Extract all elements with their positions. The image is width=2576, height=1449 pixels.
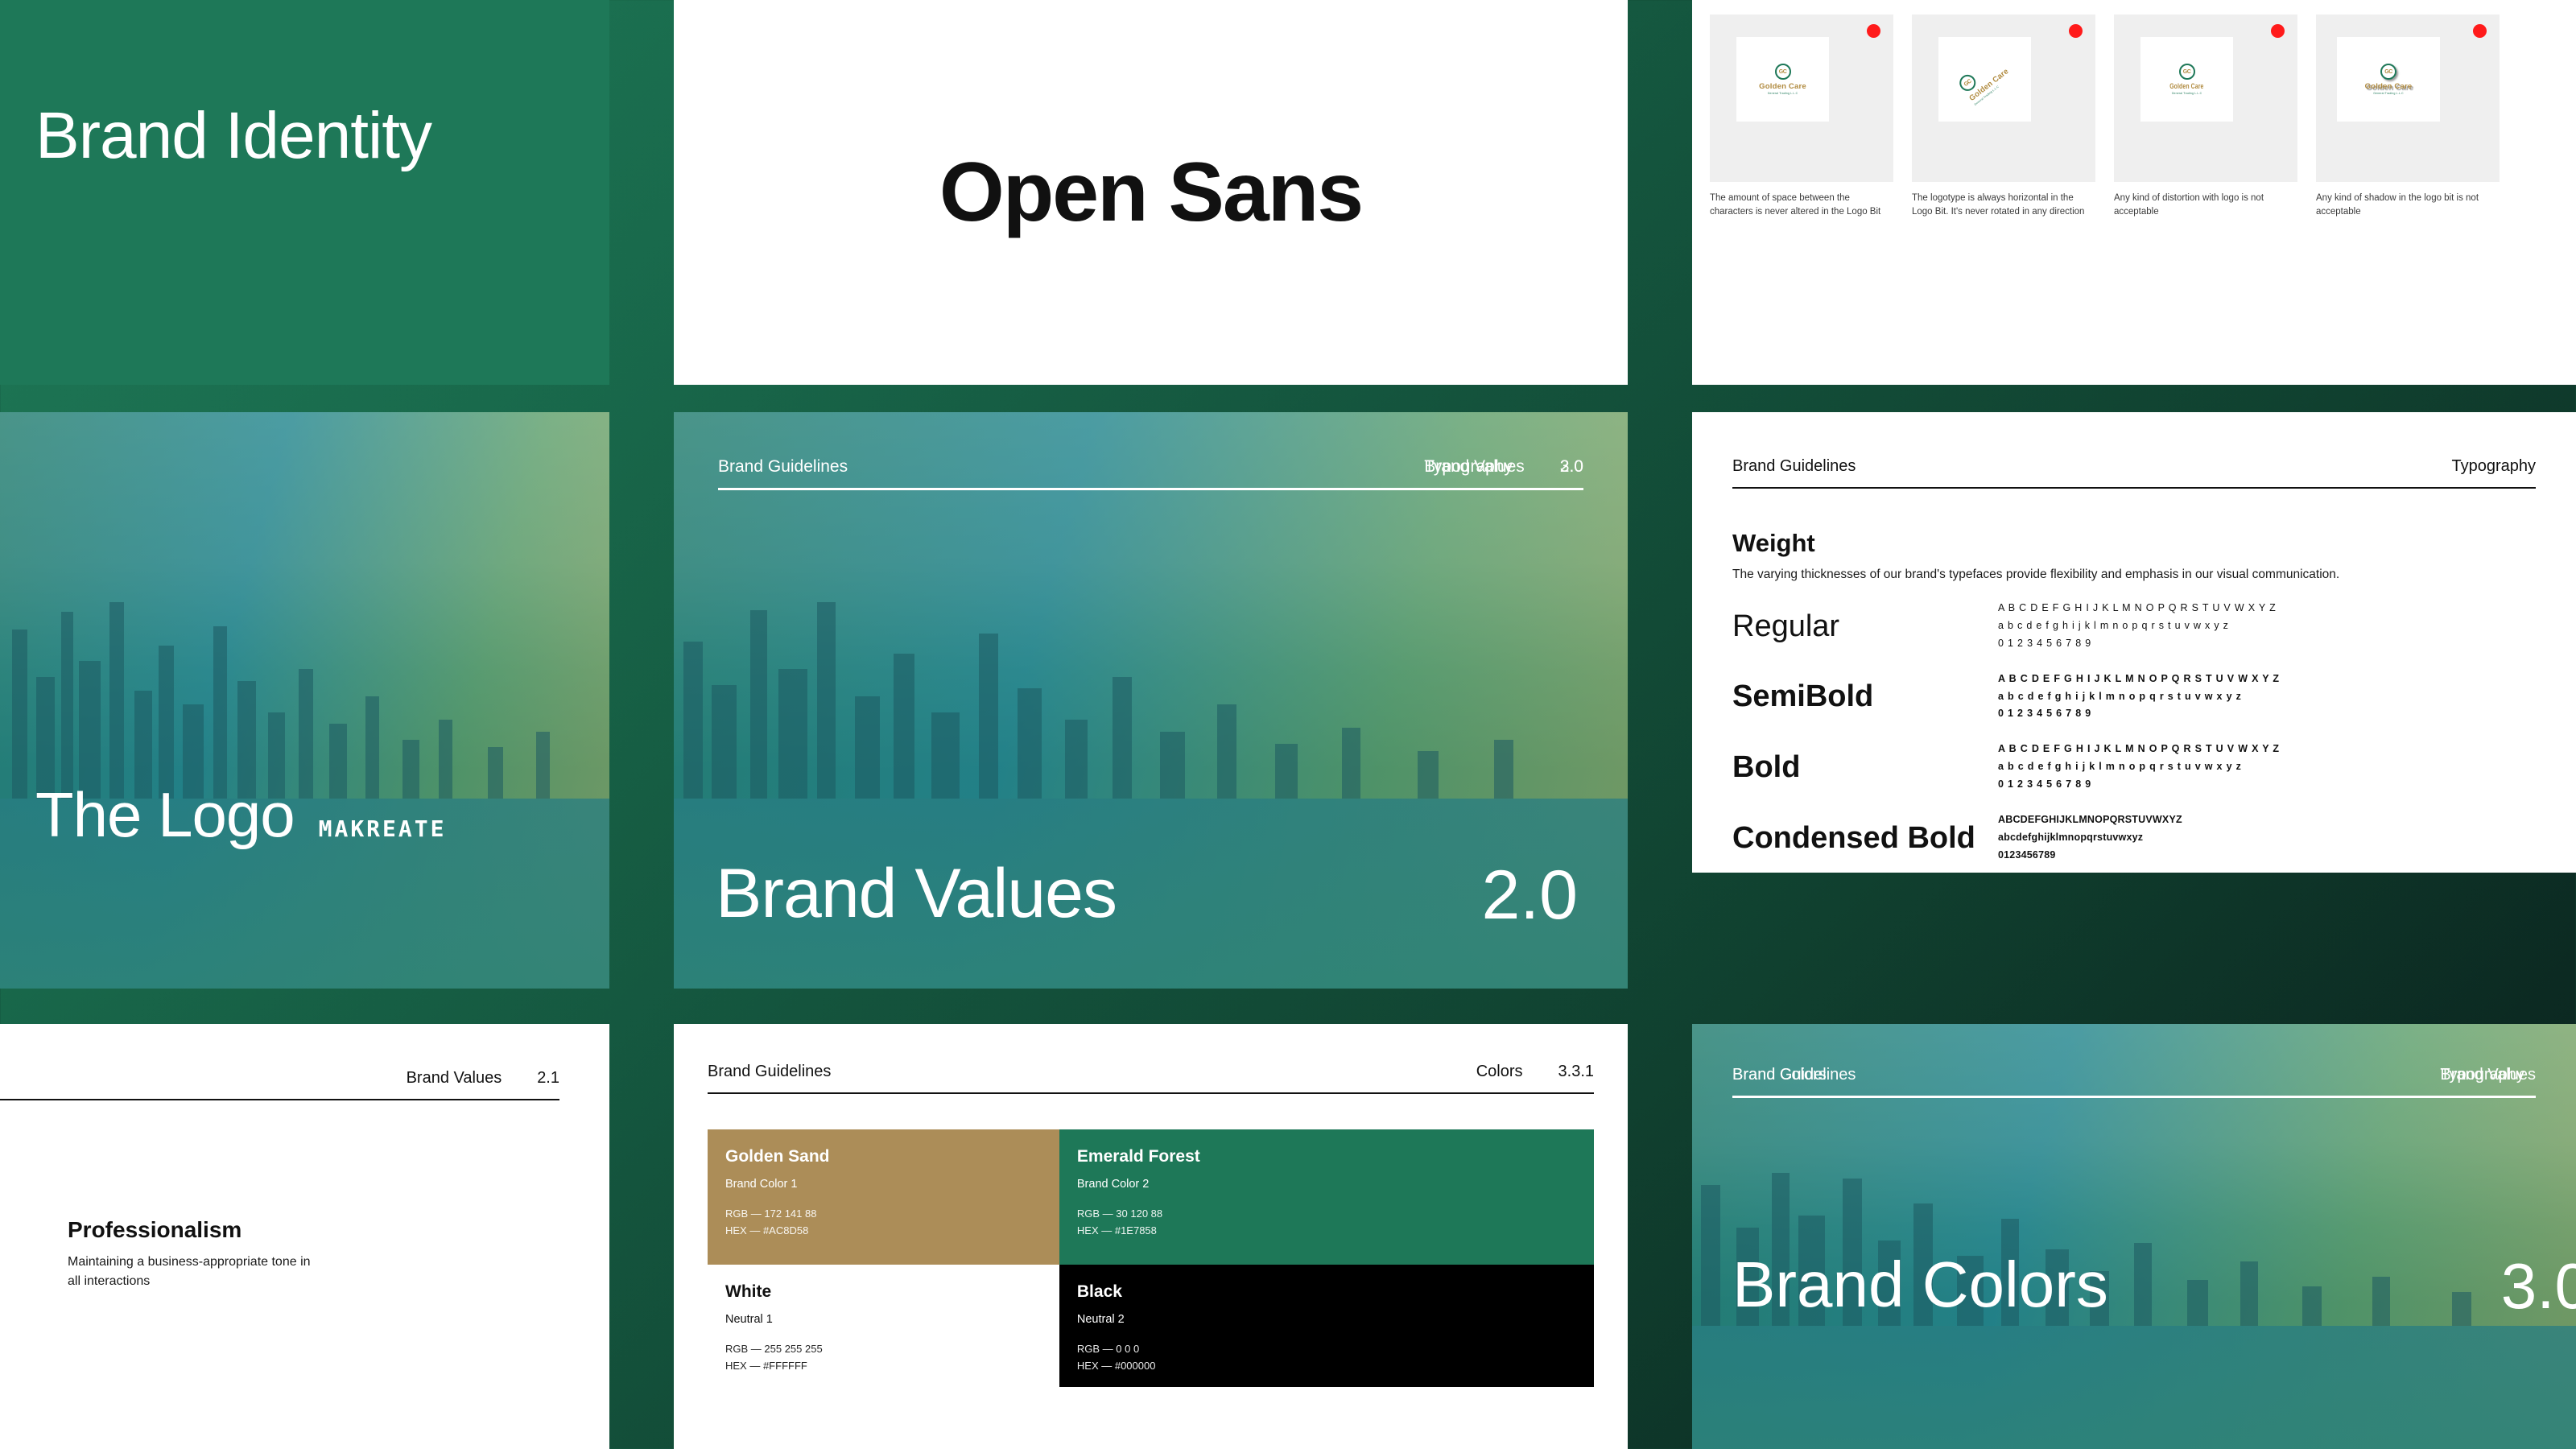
section-label-typography: Typography [2451,457,2536,476]
weight-row: SemiBold A B C D E F G H I J K L M N O P… [1732,671,2536,724]
header-divider [718,488,1583,490]
section-number: 2.1 [537,1069,559,1088]
swatch-rgb: RGB — 0 0 0 [1077,1340,1576,1357]
overlapping-header-left: Brand Guidelines Brand Colors [1732,1066,1856,1084]
swatch-name: Golden Sand [725,1147,1042,1166]
card-brand-values-cover[interactable]: Brand Guidelines Brand Values Typography… [674,412,1628,989]
logo-subtitle: General Trading L.L.C [1768,92,1798,95]
sheet-header: Brand Guidelines Brand Values 2.1 [0,1069,559,1088]
header-right-group: Colors 3.3.1 [1476,1063,1594,1081]
header-divider [1732,487,2536,489]
water-area [1692,1326,2576,1449]
skyline-silhouette [0,602,609,798]
specimen-digits: 0 1 2 3 4 5 6 7 8 9 [1998,705,2280,723]
weight-row: Regular A B C D E F G H I J K L M N O P … [1732,600,2536,653]
forbidden-dot-icon [2473,24,2487,38]
rule-caption: Any kind of shadow in the logo bit is no… [2316,192,2500,218]
rule-caption: The amount of space between the characte… [1710,192,1893,218]
golden-care-mark-icon: GC [2179,64,2195,80]
swatch-role: Neutral 2 [1077,1313,1576,1326]
specimen-uppercase: A B C D E F G H I J K L M N O P Q R S T … [1998,600,2277,617]
sheet-header: Brand Guidelines Brand Values Typography… [718,457,1583,490]
makreate-wordmark: MAKREATE [319,815,447,842]
card-typography-weights[interactable]: Brand Guidelines Typography Weight The v… [1692,412,2576,873]
weight-name: Bold [1732,752,1998,782]
logo-rule-thumbnail[interactable]: GC Golden Care General Trading L.L.C Any… [2316,14,2500,218]
header-divider [1732,1096,2536,1098]
specimen-uppercase: A B C D E F G H I J K L M N O P Q R S T … [1998,741,2280,758]
swatch-rgb: RGB — 255 255 255 [725,1340,1042,1357]
value-list: Solution-oriented Building long-term rel… [0,1217,559,1291]
swatch-white[interactable]: White Neutral 1 RGB — 255 255 255 HEX — … [708,1265,1059,1387]
sheet-header: Brand Guidelines Colors 3.3.1 [708,1063,1594,1081]
specimen-digits: 0 1 2 3 4 5 6 7 8 9 [1998,635,2277,653]
swatch-black[interactable]: Black Neutral 2 RGB — 0 0 0 HEX — #00000… [1059,1265,1594,1387]
rotated-logo-group: GC Golden Care General Trading L.L.C [1956,52,2013,106]
swatch-values: RGB — 172 141 88 HEX — #AC8D58 [725,1205,1042,1240]
thumbnail-frame: GC Golden Care General Trading L.L.C [1912,14,2095,182]
swatch-name: Emerald Forest [1077,1147,1576,1166]
logo-preview: GC Golden Care General Trading L.L.C [2140,37,2233,122]
header-label-brand-guidelines: Brand Guidelines [718,457,848,477]
swatch-role: Neutral 1 [725,1313,1042,1326]
rule-caption: Any kind of distortion with logo is not … [2114,192,2297,218]
thumbnail-frame: GC Golden Care General Trading L.L.C [2316,14,2500,182]
logo-wordmark: Golden Care [1759,82,1806,91]
overlapping-section-label: Brand Values Typography [1424,457,1525,477]
swatch-name: Black [1077,1282,1576,1302]
typeface-name: Open Sans [939,145,1362,241]
logo-rule-thumbnail[interactable]: GC Golden Care General Trading L.L.C The… [1710,14,1893,218]
thumbnail-frame: GC Golden Care General Trading L.L.C [2114,14,2297,182]
header-label-brand-guidelines: Brand Guidelines [708,1063,831,1081]
specimen-digits: 0123456789 [1998,847,2182,865]
swatch-golden-sand[interactable]: Golden Sand Brand Color 1 RGB — 172 141 … [708,1129,1059,1265]
header-right-group: Brand Values 2.1 [407,1069,559,1088]
section-heading: Weight [1732,529,2536,558]
specimen-lowercase: a b c d e f g h i j k l m n o p q r s t … [1998,688,2280,706]
forbidden-dot-icon [1867,24,1880,38]
swatch-values: RGB — 255 255 255 HEX — #FFFFFF [725,1340,1042,1375]
header-label-brand-guidelines: Brand Guidelines [1732,457,1856,476]
section-number: 3.3.1 [1558,1063,1594,1081]
logo-rule-thumbnail-list: GC Golden Care General Trading L.L.C The… [1710,14,2558,218]
section-label-b: Typography [1424,457,1513,477]
sheet-header: Brand Guidelines Typography [1732,457,2536,476]
overlapping-header-right: Brand Values Typography [2440,1066,2536,1084]
swatch-hex: HEX — #AC8D58 [725,1222,1042,1239]
specimen-digits: 0 1 2 3 4 5 6 7 8 9 [1998,776,2280,794]
swatch-hex: HEX — #000000 [1077,1357,1576,1374]
golden-care-mark-icon: GC [2380,64,2396,80]
logo-subtitle: General Trading L.L.C [2172,92,2202,95]
weight-name: Condensed Bold [1732,823,1998,853]
rule-caption: The logotype is always horizontal in the… [1912,192,2095,218]
specimen-lowercase: a b c d e f g h i j k l m n o p q r s t … [1998,617,2277,635]
sheet-header: Brand Guidelines Brand Colors Brand Valu… [1732,1066,2536,1098]
value-title: Professionalism [68,1217,325,1243]
weight-specimen: A B C D E F G H I J K L M N O P Q R S T … [1998,600,2277,653]
card-colors-sheet[interactable]: Brand Guidelines Colors 3.3.1 Golden San… [674,1024,1628,1449]
logo-preview: GC Golden Care General Trading L.L.C [1736,37,1829,122]
page-title: The Logo [35,778,295,852]
logo-preview: GC Golden Care General Trading L.L.C [1938,37,2031,122]
logo-wordmark: Golden Care [2365,82,2413,91]
logo-preview: GC Golden Care General Trading L.L.C [2337,37,2440,122]
version-b: 3.0 [1560,457,1583,477]
skyline-silhouette [674,602,1628,798]
weight-specimen: A B C D E F G H I J K L M N O P Q R S T … [1998,671,2280,724]
golden-care-mark-icon: GC [1775,64,1791,80]
thumbnail-frame: GC Golden Care General Trading L.L.C [1710,14,1893,182]
page-title: Brand Colors [1732,1248,2108,1322]
header-divider [0,1099,559,1100]
header-divider [708,1092,1594,1094]
section-label-b: Typography [2440,1066,2524,1084]
section-label-brand-values: Brand Values [407,1069,502,1088]
swatch-role: Brand Color 2 [1077,1178,1576,1191]
dubai-skyline-photo [0,412,609,989]
overlapping-version-label: 2.0 3.0 [1560,457,1583,477]
logo-wordmark: Golden Care [2169,82,2203,91]
swatch-rgb: RGB — 30 120 88 [1077,1205,1576,1222]
logo-rule-thumbnail[interactable]: GC Golden Care General Trading L.L.C Any… [2114,14,2297,218]
value-item: Professionalism Maintaining a business-a… [68,1217,325,1291]
header-label-b: Brand Colors [1732,1066,1827,1084]
section-number: 2.0 [1481,856,1578,935]
logo-subtitle: General Trading L.L.C [2373,92,2404,95]
weight-specimen: ABCDEFGHIJKLMNOPQRSTUVWXYZ abcdefghijklm… [1998,811,2182,865]
logo-rule-thumbnail[interactable]: GC Golden Care General Trading L.L.C The… [1912,14,2095,218]
section-description: The varying thicknesses of our brand's t… [1732,568,2536,582]
specimen-uppercase: A B C D E F G H I J K L M N O P Q R S T … [1998,671,2280,688]
weight-row: Bold A B C D E F G H I J K L M N O P Q R… [1732,741,2536,794]
card-brand-identity-cover[interactable]: Brand Identity [0,0,609,385]
swatch-values: RGB — 30 120 88 HEX — #1E7858 [1077,1205,1576,1240]
swatch-emerald-forest[interactable]: Emerald Forest Brand Color 2 RGB — 30 12… [1059,1129,1594,1265]
swatch-name: White [725,1282,1042,1302]
weight-name: Regular [1732,611,1998,642]
specimen-lowercase: a b c d e f g h i j k l m n o p q r s t … [1998,758,2280,776]
section-number: 3.0 [2501,1249,2576,1323]
card-typeface-open-sans[interactable]: Open Sans [674,0,1628,385]
card-brand-values-sheet[interactable]: Brand Guidelines Brand Values 2.1 Soluti… [0,1024,609,1449]
swatch-values: RGB — 0 0 0 HEX — #000000 [1077,1340,1576,1375]
page-title: Brand Values [716,854,1117,934]
card-logo-misuse-rules[interactable]: GC Golden Care General Trading L.L.C The… [1692,0,2576,385]
forbidden-dot-icon [2069,24,2083,38]
weight-name: SemiBold [1732,681,1998,712]
specimen-lowercase: abcdefghijklmnopqrstuvwxyz [1998,829,2182,847]
swatch-hex: HEX — #1E7858 [1077,1222,1576,1239]
header-right-group: Brand Values Typography 2.0 3.0 [1424,457,1583,477]
weight-specimen: A B C D E F G H I J K L M N O P Q R S T … [1998,741,2280,794]
swatch-hex: HEX — #FFFFFF [725,1357,1042,1374]
specimen-uppercase: ABCDEFGHIJKLMNOPQRSTUVWXYZ [1998,811,2182,829]
section-label-colors: Colors [1476,1063,1523,1081]
page-title: Brand Identity [0,98,431,385]
value-body: Maintaining a business-appropriate tone … [68,1253,325,1291]
weight-row: Condensed Bold ABCDEFGHIJKLMNOPQRSTUVWXY… [1732,811,2536,865]
card-brand-colors-cover[interactable]: Brand Guidelines Brand Colors Brand Valu… [1692,1024,2576,1449]
forbidden-dot-icon [2271,24,2285,38]
card-the-logo-cover[interactable]: The Logo MAKREATE [0,412,609,989]
swatch-rgb: RGB — 172 141 88 [725,1205,1042,1222]
swatch-role: Brand Color 1 [725,1178,1042,1191]
title-row: The Logo MAKREATE [35,778,446,852]
color-swatch-grid: Golden Sand Brand Color 1 RGB — 172 141 … [708,1129,1594,1387]
